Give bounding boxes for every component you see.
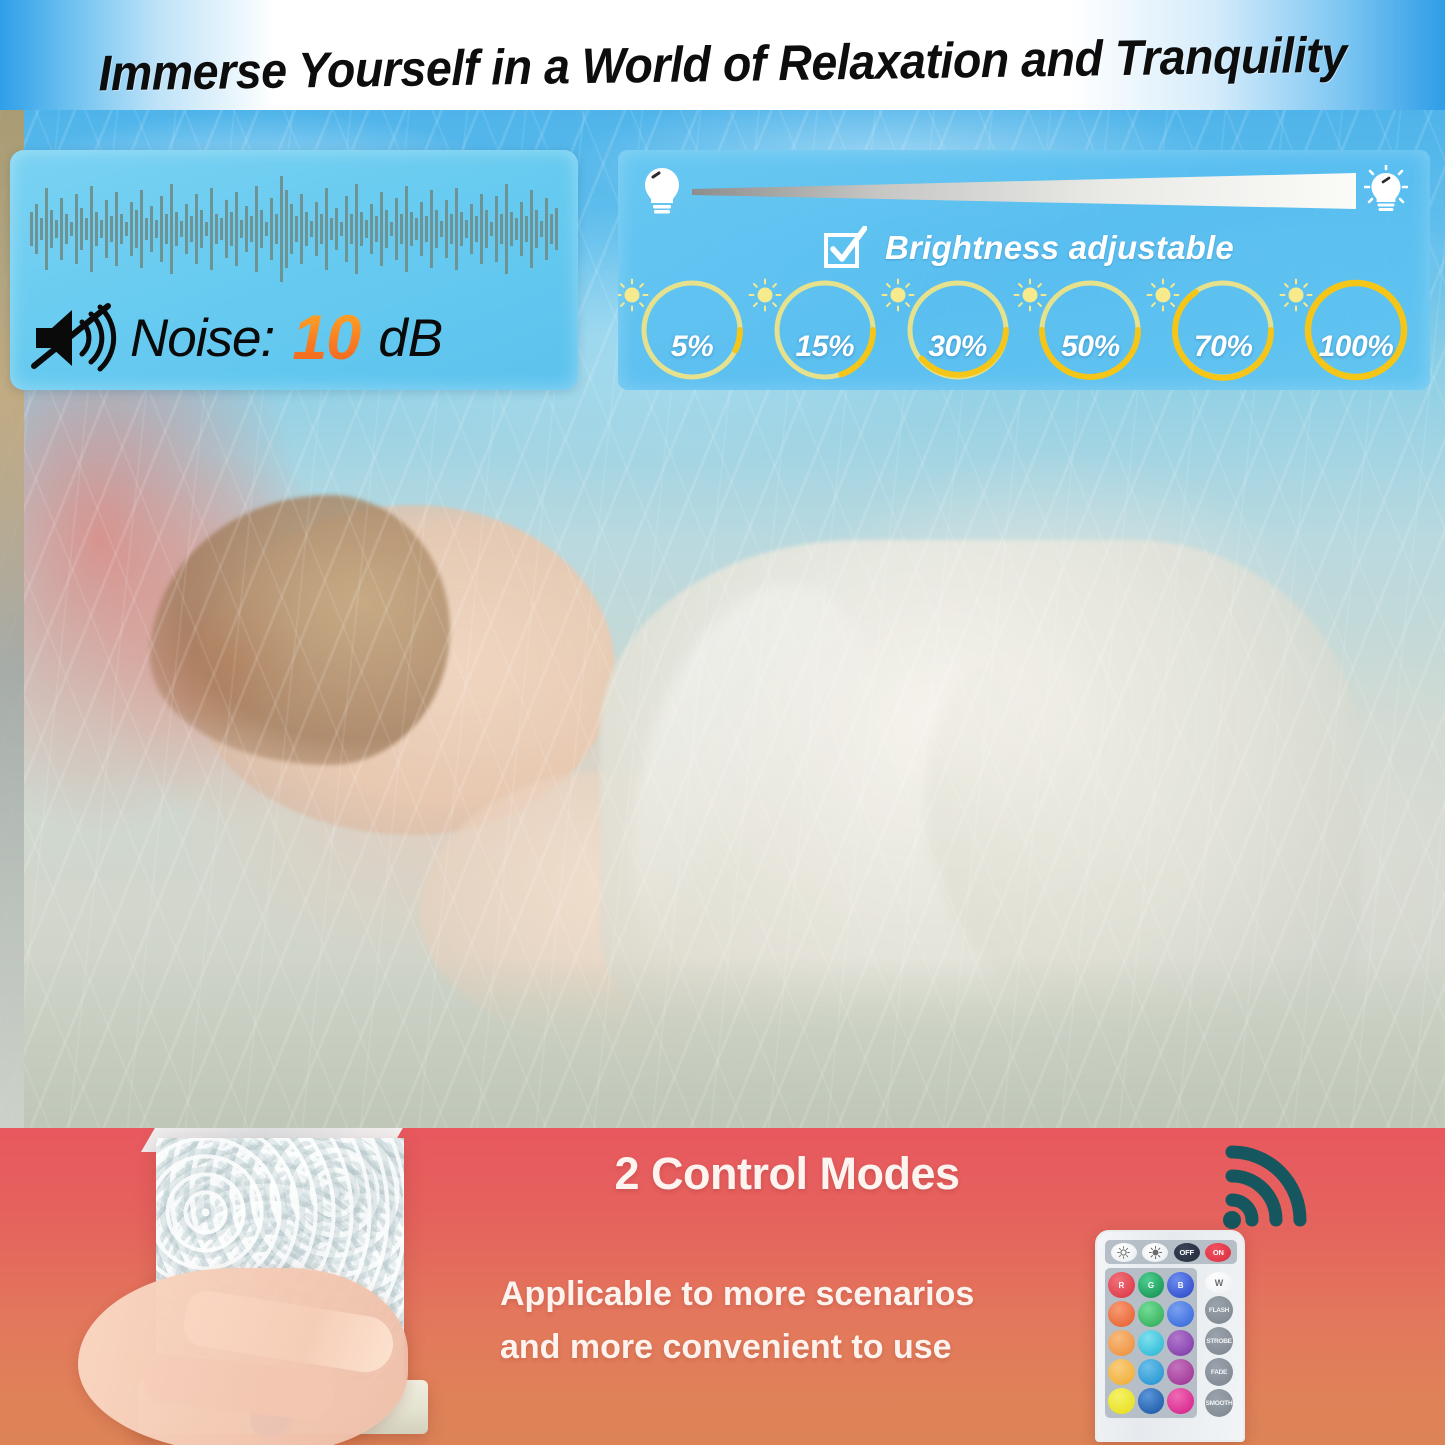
remote-control[interactable]: OFF ON R G B W: [1095, 1230, 1245, 1442]
checkbox-checked-icon[interactable]: [823, 226, 867, 270]
mode-button-strobe[interactable]: STROBE: [1205, 1327, 1233, 1355]
color-button-orange-red[interactable]: [1108, 1301, 1135, 1327]
color-button-dark-blue[interactable]: [1138, 1388, 1165, 1414]
ring-label: 30%: [898, 330, 1018, 364]
brightness-adjustable-row[interactable]: Brightness adjustable: [823, 226, 1234, 270]
brightness-info-panel: Brightness adjustable 5%: [618, 150, 1430, 390]
ring-label: 50%: [1030, 330, 1150, 364]
color-button-azure[interactable]: [1138, 1359, 1165, 1385]
brightness-down-icon: [1117, 1246, 1130, 1259]
color-button-violet[interactable]: [1167, 1359, 1194, 1385]
brightness-ring-50[interactable]: 50%: [1030, 278, 1150, 382]
brightness-ring-15[interactable]: 15%: [765, 278, 885, 382]
sun-icon: [1279, 278, 1313, 312]
brightness-down-button[interactable]: [1111, 1243, 1137, 1262]
product-infographic: Immerse Yourself in a World of Relaxatio…: [0, 0, 1445, 1445]
mode-button-smooth[interactable]: SMOOTH: [1205, 1389, 1233, 1417]
mode-button-fade[interactable]: FADE: [1205, 1358, 1233, 1386]
mode-button-flash[interactable]: FLASH: [1205, 1296, 1233, 1324]
control-modes-banner: 2 Control Modes Applicable to more scena…: [0, 1128, 1445, 1445]
brightness-ring-70[interactable]: 70%: [1163, 278, 1283, 382]
color-button-amber[interactable]: [1108, 1359, 1135, 1385]
brightness-up-icon: [1149, 1246, 1162, 1259]
color-button-green[interactable]: [1138, 1301, 1165, 1327]
noise-value: 10: [282, 302, 370, 374]
color-button-r[interactable]: R: [1108, 1272, 1135, 1298]
color-button-magenta[interactable]: [1167, 1388, 1194, 1414]
brightness-slider-track[interactable]: [692, 171, 1356, 211]
bulb-on-icon: [1364, 165, 1408, 217]
sun-icon: [1146, 278, 1180, 312]
banner-subtext-line1: Applicable to more scenarios: [500, 1268, 1060, 1321]
color-button-orange[interactable]: [1108, 1330, 1135, 1356]
crystal-cube-lamp: [118, 1130, 448, 1445]
ring-label: 100%: [1296, 330, 1416, 364]
brightness-slider[interactable]: [640, 162, 1408, 220]
noise-info-panel: Noise: 10 dB: [10, 150, 578, 390]
color-button-b[interactable]: B: [1167, 1272, 1194, 1298]
noise-unit: dB: [378, 308, 443, 369]
remote-off-button[interactable]: OFF: [1174, 1243, 1200, 1262]
ring-label: 70%: [1163, 330, 1283, 364]
remote-top-row: OFF ON: [1105, 1240, 1237, 1264]
sun-icon: [881, 278, 915, 312]
sun-icon: [748, 278, 782, 312]
color-button-g[interactable]: G: [1138, 1272, 1165, 1298]
brightness-level-rings: 5% 15%: [632, 278, 1416, 382]
brightness-up-button[interactable]: [1142, 1243, 1168, 1262]
ring-label: 5%: [632, 330, 752, 364]
color-button-purple[interactable]: [1167, 1330, 1194, 1356]
banner-subtext-line2: and more convenient to use: [500, 1321, 1060, 1374]
sun-icon: [1013, 278, 1047, 312]
page-title: Immerse Yourself in a World of Relaxatio…: [50, 0, 1395, 118]
noise-label: Noise:: [130, 312, 274, 365]
remote-color-grid: R G B: [1105, 1268, 1197, 1418]
color-button-w[interactable]: W: [1205, 1272, 1233, 1293]
brightness-ring-30[interactable]: 30%: [898, 278, 1018, 382]
header-banner: Immerse Yourself in a World of Relaxatio…: [0, 0, 1445, 118]
wifi-signal-icon: [1218, 1128, 1328, 1232]
banner-subtext: Applicable to more scenarios and more co…: [500, 1268, 1060, 1373]
brightness-adjustable-label: Brightness adjustable: [885, 229, 1234, 267]
sun-icon: [618, 278, 649, 312]
brightness-ring-100[interactable]: 100%: [1296, 278, 1416, 382]
noise-readout: Noise: 10 dB: [30, 300, 443, 376]
bulb-off-icon: [640, 165, 684, 217]
brightness-ring-5[interactable]: 5%: [632, 278, 752, 382]
remote-on-button[interactable]: ON: [1205, 1243, 1231, 1262]
color-button-cyan[interactable]: [1138, 1330, 1165, 1356]
ring-label: 15%: [765, 330, 885, 364]
mute-speaker-icon: [30, 300, 122, 376]
banner-title: 2 Control Modes: [552, 1148, 1022, 1200]
color-button-yellow[interactable]: [1108, 1388, 1135, 1414]
color-button-royal-blue[interactable]: [1167, 1301, 1194, 1327]
remote-mode-buttons: W FLASH STROBE FADE SMOOTH: [1199, 1268, 1239, 1418]
audio-waveform-icon: [28, 168, 562, 290]
